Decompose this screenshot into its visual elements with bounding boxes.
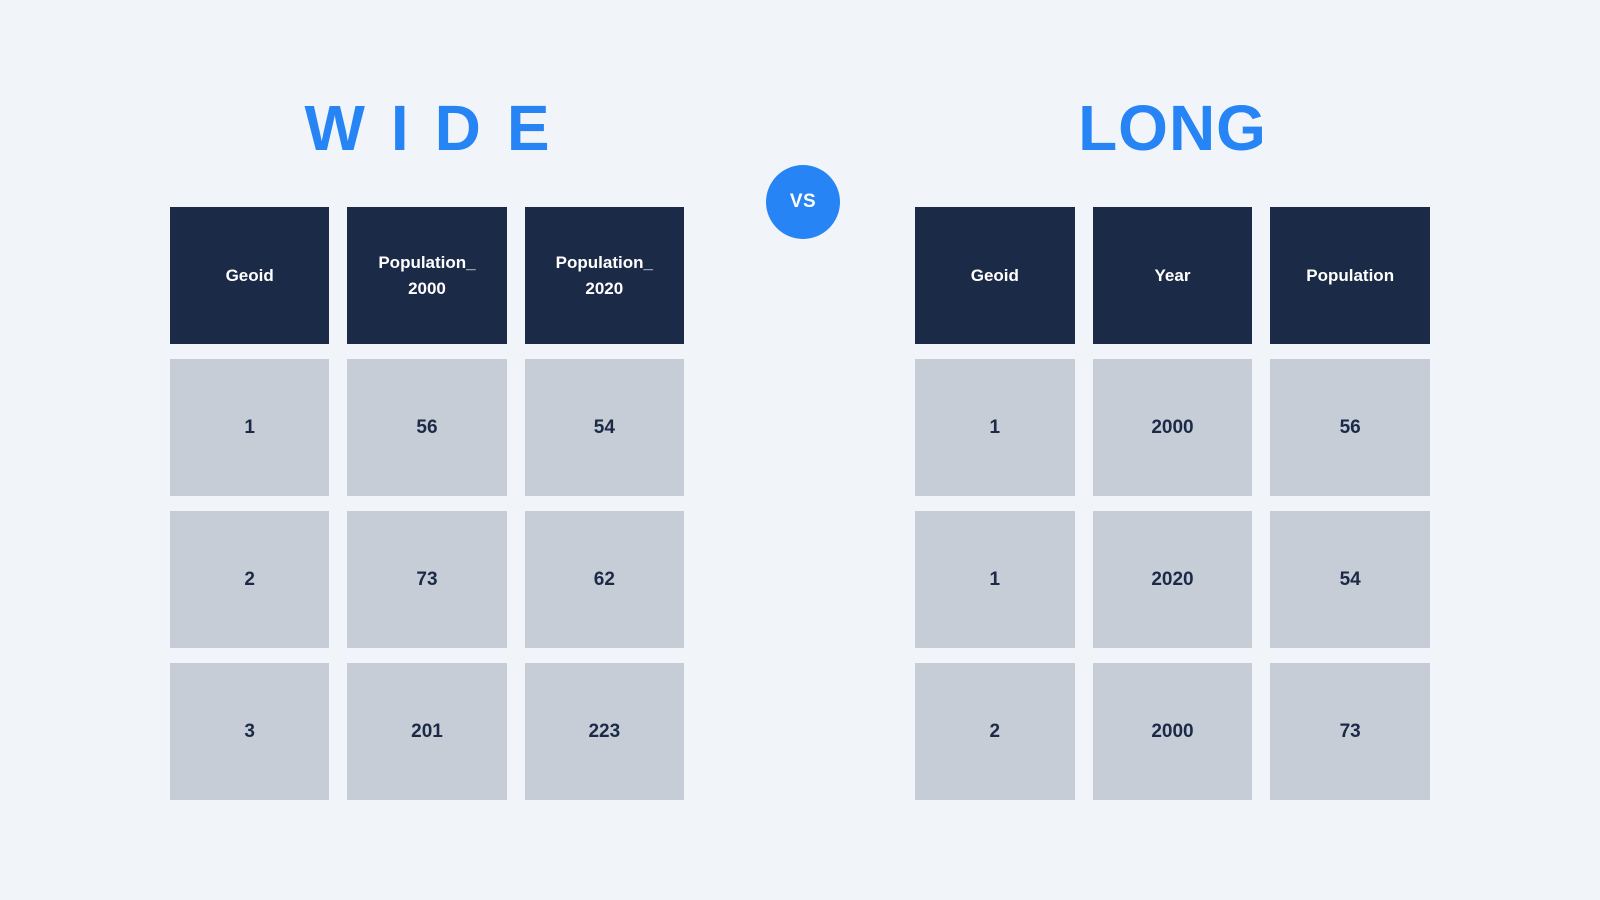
table-cell: 223 (525, 663, 684, 800)
wide-format-table: Geoid Population_ 2000 Population_ 2020 … (170, 207, 684, 800)
long-header-population: Population (1270, 207, 1430, 344)
table-cell: 2 (915, 663, 1075, 800)
titles-row: WIDE VS LONG (0, 80, 1600, 176)
table-cell: 54 (525, 359, 684, 496)
header-line-1: Year (1155, 263, 1191, 289)
table-cell: 73 (347, 511, 506, 648)
header-line-2: 2000 (378, 276, 475, 302)
header-line-1: Population_ (378, 250, 475, 276)
table-cell: 3 (170, 663, 329, 800)
table-cell: 2 (170, 511, 329, 648)
table-cell: 2020 (1093, 511, 1253, 648)
slide-canvas: WIDE VS LONG Geoid Population_ 2000 Popu… (0, 0, 1600, 900)
wide-header-geoid: Geoid (170, 207, 329, 344)
wide-header-population-2020: Population_ 2020 (525, 207, 684, 344)
long-header-geoid: Geoid (915, 207, 1075, 344)
table-cell: 2000 (1093, 663, 1253, 800)
long-format-table: Geoid Year Population 1 2000 56 1 2020 5… (915, 207, 1430, 800)
table-cell: 56 (1270, 359, 1430, 496)
wide-title: WIDE (170, 80, 684, 176)
table-cell: 54 (1270, 511, 1430, 648)
table-cell: 1 (170, 359, 329, 496)
table-cell: 56 (347, 359, 506, 496)
table-cell: 2000 (1093, 359, 1253, 496)
table-cell: 1 (915, 511, 1075, 648)
header-line-2: 2020 (556, 276, 653, 302)
table-cell: 73 (1270, 663, 1430, 800)
table-cell: 62 (525, 511, 684, 648)
long-title: LONG (915, 80, 1430, 176)
header-line-1: Geoid (226, 263, 274, 289)
long-header-year: Year (1093, 207, 1253, 344)
header-line-1: Population_ (556, 250, 653, 276)
table-cell: 201 (347, 663, 506, 800)
header-line-1: Population (1306, 263, 1394, 289)
wide-header-population-2000: Population_ 2000 (347, 207, 506, 344)
vs-badge: VS (766, 165, 840, 239)
table-cell: 1 (915, 359, 1075, 496)
header-line-1: Geoid (971, 263, 1019, 289)
vs-label: VS (790, 191, 816, 213)
